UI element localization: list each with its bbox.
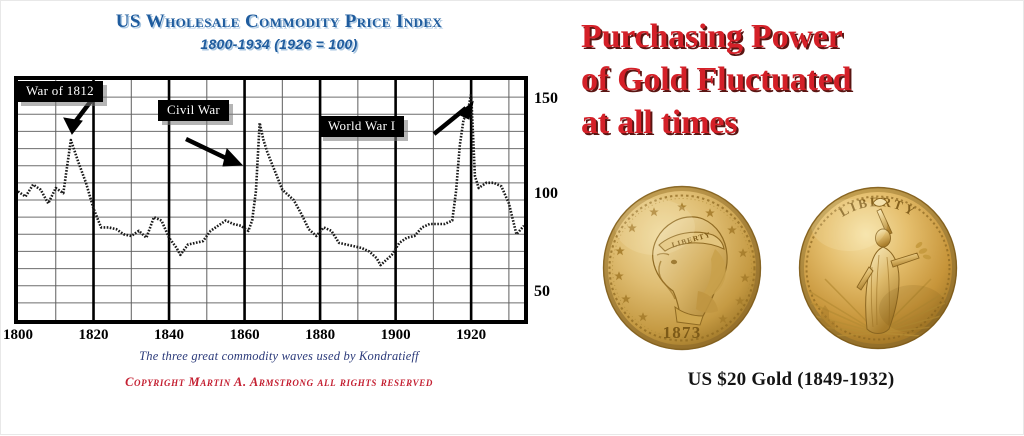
saint-gaudens-coin-image: LIBERTY [795, 183, 961, 353]
headline-line-2: of Gold Fluctuated [581, 58, 1021, 101]
headline-line-1: Purchasing Power [581, 15, 1021, 58]
chart-subtitle: 1800-1934 (1926 = 100) [1, 36, 557, 52]
x-axis-label-1800: 1800 [3, 327, 33, 344]
poster-canvas: US Wholesale Commodity Price Index 1800-… [0, 0, 1024, 435]
chart-title: US Wholesale Commodity Price Index [1, 11, 557, 33]
copyright-note: Copyright Martin A. Armstrong all rights… [1, 375, 557, 390]
y-axis-label-50: 50 [534, 283, 550, 301]
callout-civil-war: Civil War [158, 100, 229, 121]
x-axis-label-1920: 1920 [456, 327, 486, 344]
x-axis-label-1820: 1820 [79, 327, 109, 344]
gold-panel: Purchasing Power of Gold Fluctuated at a… [557, 1, 1024, 436]
price-index-line-svg [14, 76, 528, 324]
coin-caption: US $20 Gold (1849-1932) [557, 369, 1024, 391]
gold-headline: Purchasing Power of Gold Fluctuated at a… [581, 15, 1021, 145]
callout-world-war-i: World War I [319, 116, 404, 137]
y-axis-label-150: 150 [534, 90, 558, 108]
kondratieff-note: The three great commodity waves used by … [1, 349, 557, 364]
commodity-chart-panel: US Wholesale Commodity Price Index 1800-… [1, 1, 557, 436]
x-axis-label-1860: 1860 [230, 327, 260, 344]
coin-images: LIBERTY 187 [579, 183, 1009, 355]
y-axis-label-100: 100 [534, 185, 558, 203]
chart-plot-area [14, 76, 528, 324]
x-axis-label-1900: 1900 [381, 327, 411, 344]
headline-line-3: at all times [581, 101, 1021, 144]
liberty-head-coin-image: LIBERTY 187 [599, 183, 765, 353]
x-axis-label-1880: 1880 [305, 327, 335, 344]
grid-lines [18, 80, 524, 320]
x-axis-label-1840: 1840 [154, 327, 184, 344]
x-axis-labels: 1800182018401860188019001920 [14, 327, 528, 345]
callout-war-of-1812: War of 1812 [17, 81, 103, 102]
coin-date-text: 1873 [663, 323, 702, 342]
